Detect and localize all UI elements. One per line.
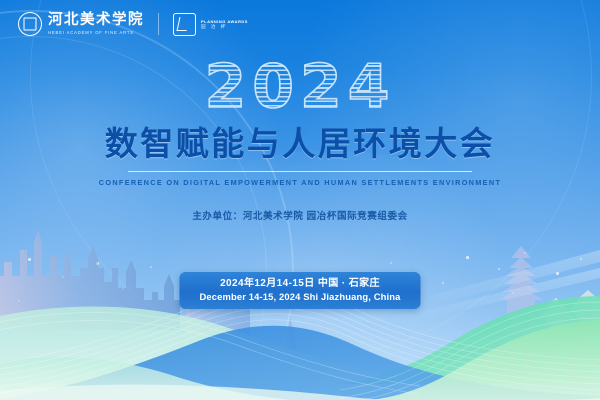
hero-year-block: 2024 [0, 52, 600, 122]
logo-academy-name-cn: 河北美术学院 [48, 13, 144, 28]
hero-title-block: 数智赋能与人居环境大会 CONFERENCE ON DIGITAL EMPOWE… [0, 126, 600, 187]
planning-awards-mark-icon [173, 13, 196, 36]
logo-bar: 河北美术学院 HEBEI ACADEMY OF FINE ARTS PLANNI… [18, 12, 248, 36]
date-location-cn: 2024年12月14-15日 中国 · 石家庄 [199, 277, 400, 291]
academy-seal-icon [18, 12, 42, 36]
hero-year: 2024 [205, 52, 396, 122]
date-location-en: December 14-15, 2024 Shi Jiazhuang, Chin… [199, 291, 400, 303]
date-location-badge: 2024年12月14-15日 中国 · 石家庄 December 14-15, … [179, 272, 420, 309]
page-subtitle: CONFERENCE ON DIGITAL EMPOWERMENT AND HU… [0, 178, 600, 187]
title-divider [128, 171, 472, 172]
logo-planning-awards[interactable]: PLANNING AWARDS 园 冶 杯 [173, 13, 248, 36]
conference-banner: 河北美术学院 HEBEI ACADEMY OF FINE ARTS PLANNI… [0, 0, 600, 400]
organizer-line: 主办单位：河北美术学院 园冶杯国际竞赛组委会 [0, 208, 600, 222]
logo-academy-name-en: HEBEI ACADEMY OF FINE ARTS [48, 31, 144, 35]
logo-hebei-academy[interactable]: 河北美术学院 HEBEI ACADEMY OF FINE ARTS [18, 12, 144, 36]
page-title: 数智赋能与人居环境大会 [0, 126, 600, 162]
logo-awards-name-cn: 园 冶 杯 [201, 24, 248, 30]
logo-divider [158, 13, 159, 35]
